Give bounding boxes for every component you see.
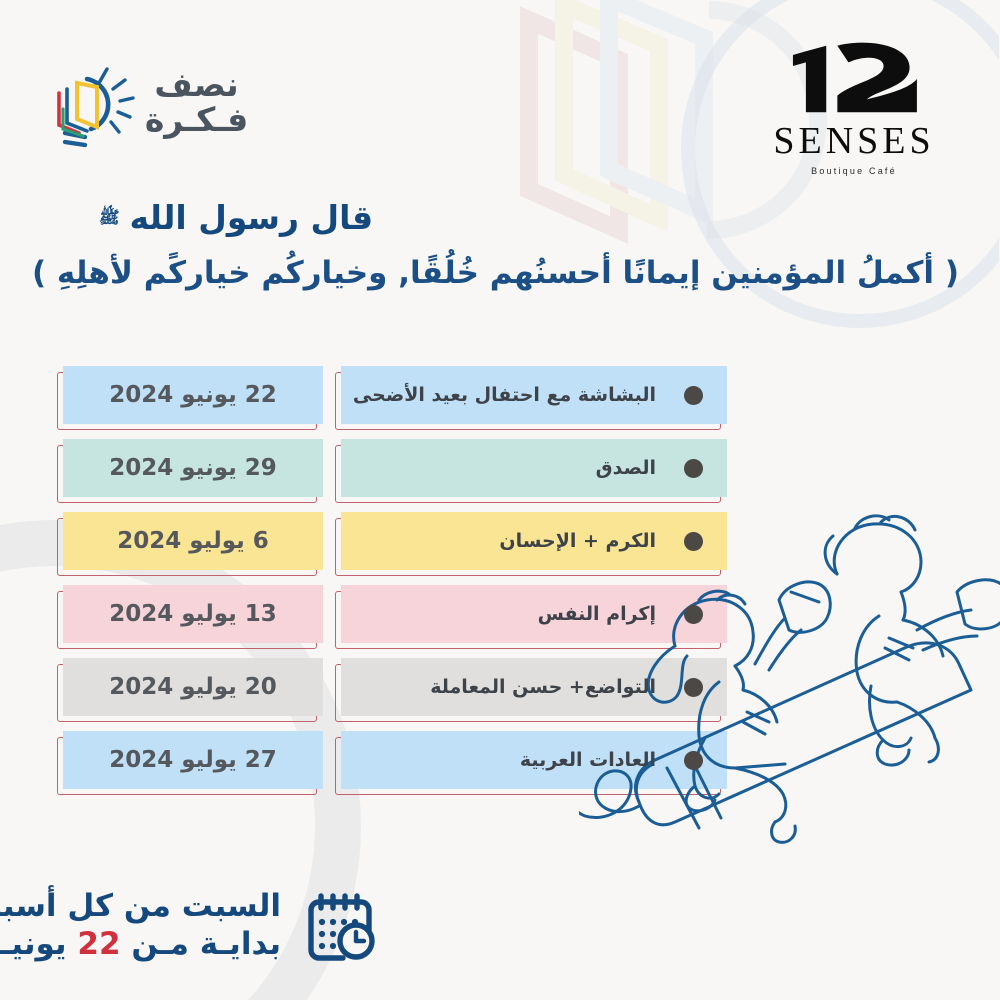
footer-start-day: 22 [78, 926, 121, 962]
footer-line-1: السبت من كل أسبوع [0, 888, 282, 926]
footer-line2-before: بدايـة مـن [132, 926, 282, 962]
schedule-topic-cell[interactable]: العادات العربية [342, 731, 728, 789]
schedule-topic-text: إكرام النفس [539, 603, 657, 625]
lightbulb-book-icon [42, 53, 142, 153]
footer-schedule-note: السبت من كل أسبوع بدايـة مـن 22 يونيـو [0, 888, 380, 964]
footer-line-2: بدايـة مـن 22 يونيـو [0, 926, 282, 964]
hadith-text: ( أكملُ المؤمنين إيمانًا أحسنُهم خُلُقًا… [40, 251, 960, 296]
senses-title: SENSES [760, 122, 950, 160]
boutique-cafe-subtitle: Boutique Café [760, 166, 950, 176]
bullet-icon [685, 678, 704, 697]
hadith-intro-line: قال رسول الله ﷺ [40, 196, 960, 241]
schedule-date-cell[interactable]: 6 يوليو 2024 [64, 512, 324, 570]
calendar-clock-icon [304, 888, 380, 964]
sallallahu-alayhi-wasallam-icon: ﷺ [100, 210, 121, 227]
logo-word-top: نصف [142, 68, 253, 103]
schedule-date-cell[interactable]: 27 يوليو 2024 [64, 731, 324, 789]
logo-word-bottom: فـكـرة [142, 103, 253, 138]
schedule-date-text: 20 يوليو 2024 [110, 674, 278, 700]
footer-line2-after: يونيـو [0, 926, 68, 962]
nisf-fikra-logo: نصف فـكـرة [42, 48, 257, 158]
bullet-icon [685, 459, 704, 478]
schedule-date-text: 29 يونيو 2024 [110, 455, 278, 481]
12-senses-logo: SENSES Boutique Café [760, 42, 950, 176]
schedule-date-text: 6 يوليو 2024 [118, 528, 270, 554]
table-row: 13 يوليو 2024 إكرام النفس [64, 581, 728, 653]
schedule-topic-text: التواضع+ حسن المعاملة [431, 676, 657, 698]
bullet-icon [685, 605, 704, 624]
table-row: 27 يوليو 2024 العادات العربية [64, 727, 728, 799]
bullet-icon [685, 386, 704, 405]
schedule-topic-cell[interactable]: إكرام النفس [342, 585, 728, 643]
schedule-date-text: 13 يوليو 2024 [110, 601, 278, 627]
bullet-icon [685, 751, 704, 770]
poster-canvas: نصف فـكـرة [0, 0, 1000, 1000]
schedule-topic-text: الصدق [597, 457, 657, 479]
bullet-icon [685, 532, 704, 551]
schedule-topic-cell[interactable]: التواضع+ حسن المعاملة [342, 658, 728, 716]
table-row: 29 يونيو 2024 الصدق [64, 435, 728, 507]
schedule-date-text: 22 يونيو 2024 [110, 382, 278, 408]
table-row: 6 يوليو 2024 الكرم + الإحسان [64, 508, 728, 580]
table-row: 20 يوليو 2024 التواضع+ حسن المعاملة [64, 654, 728, 726]
nisf-fikra-wordmark: نصف فـكـرة [142, 68, 257, 138]
schedule-topic-text: الكرم + الإحسان [500, 530, 657, 552]
schedule-topic-text: البشاشة مع احتفال بعيد الأضحى [354, 384, 657, 406]
schedule-date-text: 27 يوليو 2024 [110, 747, 278, 773]
hadith-intro-text: قال رسول الله [131, 196, 375, 241]
hadith-block: قال رسول الله ﷺ ( أكملُ المؤمنين إيمانًا… [40, 196, 960, 295]
schedule-date-cell[interactable]: 13 يوليو 2024 [64, 585, 324, 643]
12-numeral-mark [781, 42, 929, 116]
schedule-topic-cell[interactable]: الكرم + الإحسان [342, 512, 728, 570]
table-row: 22 يونيو 2024 البشاشة مع احتفال بعيد الأ… [64, 362, 728, 434]
schedule-topic-text: العادات العربية [521, 749, 657, 771]
schedule-date-cell[interactable]: 20 يوليو 2024 [64, 658, 324, 716]
schedule-topic-cell[interactable]: الصدق [342, 439, 728, 497]
schedule-date-cell[interactable]: 29 يونيو 2024 [64, 439, 324, 497]
footer-text-block: السبت من كل أسبوع بدايـة مـن 22 يونيـو [0, 888, 282, 964]
schedule-date-cell[interactable]: 22 يونيو 2024 [64, 366, 324, 424]
schedule-topic-cell[interactable]: البشاشة مع احتفال بعيد الأضحى [342, 366, 728, 424]
